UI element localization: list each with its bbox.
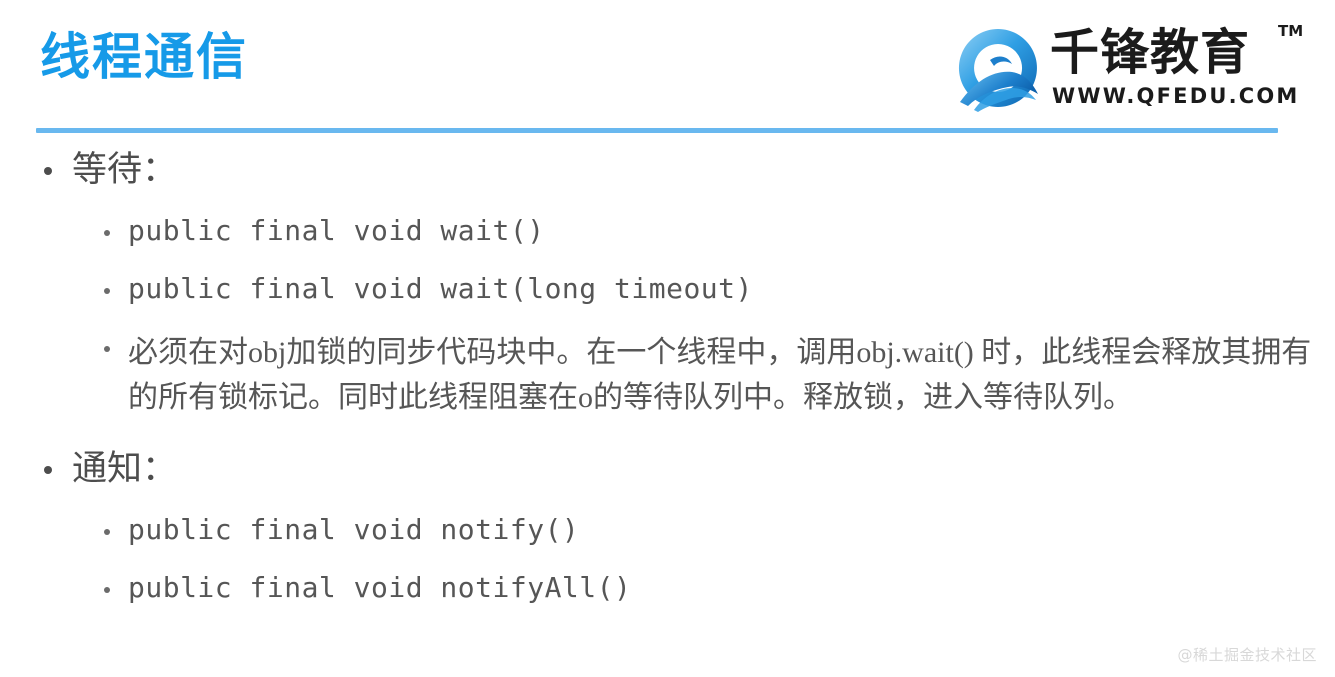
trademark-mark: TM	[1278, 22, 1303, 40]
section-heading-text: 通知：	[72, 449, 177, 488]
list-item: public final void notifyAll()	[0, 571, 1335, 607]
content-section-wait: 等待： public final void wait() public fina…	[0, 148, 1335, 421]
code-signature: public final void wait()	[128, 214, 545, 247]
bullet-dot-icon	[44, 466, 52, 474]
brand-logo: 千锋教育 TM WWW.QFEDU.COM	[950, 20, 1290, 115]
community-watermark: @稀土掘金技术社区	[1177, 644, 1317, 665]
slide-canvas: 线程通信	[0, 0, 1335, 677]
bullet-dot-icon	[104, 529, 110, 535]
brand-name-cn: 千锋教育	[1050, 28, 1250, 77]
section-heading-text: 等待：	[72, 150, 177, 189]
list-item: 必须在对obj加锁的同步代码块中。在一个线程中，调用obj.wait() 时，此…	[0, 330, 1335, 421]
slide-body: 等待： public final void wait() public fina…	[0, 148, 1335, 607]
list-item: public final void notify()	[0, 513, 1335, 549]
bullet-dot-icon	[104, 346, 110, 352]
code-signature: public final void notify()	[128, 513, 579, 546]
section-heading-notify: 通知：	[0, 447, 1335, 491]
code-signature: public final void wait(long timeout)	[128, 272, 753, 305]
brand-wordmark: 千锋教育 TM WWW.QFEDU.COM	[1050, 28, 1290, 108]
list-item: public final void wait(long timeout)	[0, 272, 1335, 308]
title-divider	[36, 128, 1278, 133]
code-signature: public final void notifyAll()	[128, 571, 631, 604]
bullet-dot-icon	[104, 288, 110, 294]
slide-header: 线程通信	[0, 0, 1335, 132]
page-title: 线程通信	[40, 30, 248, 85]
section-heading-wait: 等待：	[0, 148, 1335, 192]
brand-url: WWW.QFEDU.COM	[1052, 84, 1300, 108]
content-section-notify: 通知： public final void notify() public fi…	[0, 447, 1335, 607]
qfedu-q-swoosh-mark-icon	[950, 24, 1046, 112]
bullet-dot-icon	[44, 167, 52, 175]
section-spacer	[0, 421, 1335, 447]
list-item: public final void wait()	[0, 214, 1335, 250]
bullet-dot-icon	[104, 230, 110, 236]
bullet-dot-icon	[104, 587, 110, 593]
description-paragraph: 必须在对obj加锁的同步代码块中。在一个线程中，调用obj.wait() 时，此…	[128, 336, 1311, 415]
